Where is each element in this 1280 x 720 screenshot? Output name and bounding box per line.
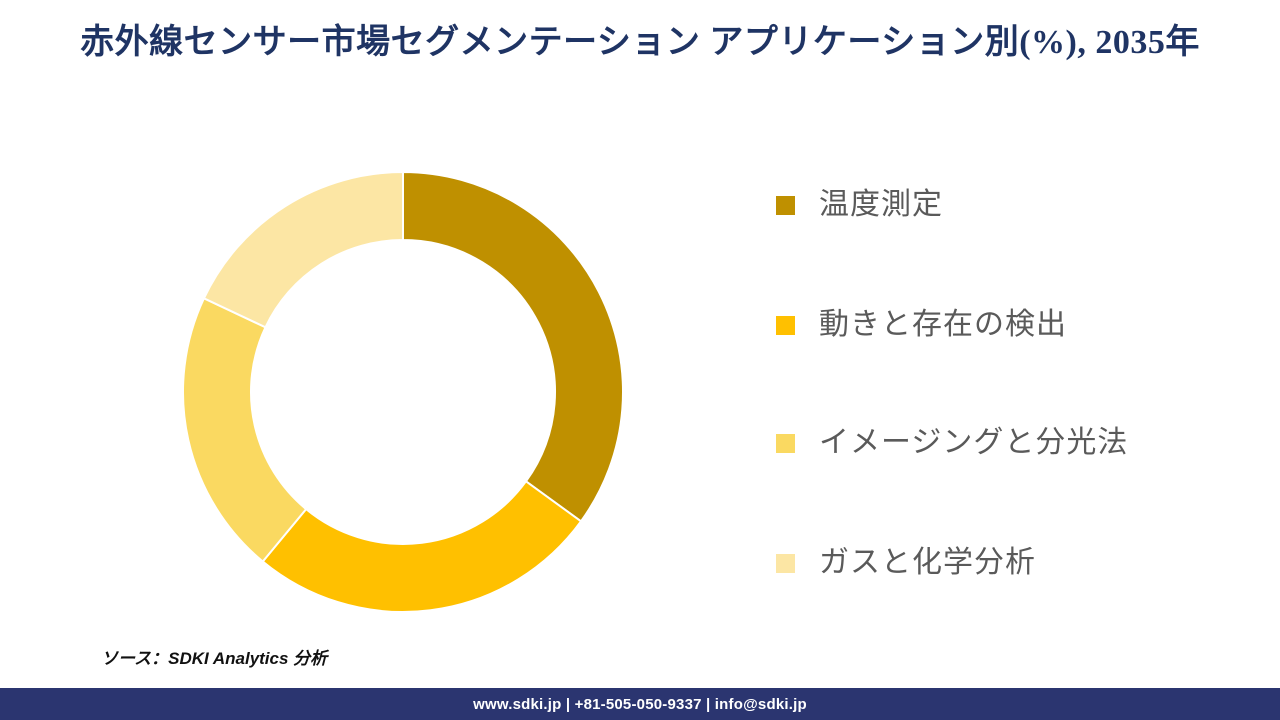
legend-item-label: 温度測定	[819, 190, 943, 220]
footer-contact-text: www.sdki.jp | +81-505-050-9337 | info@sd…	[473, 696, 807, 713]
page-title: 赤外線センサー市場セグメンテーション アプリケーション別(%), 2035年	[0, 22, 1280, 65]
legend-item-motion-presence-detection[interactable]: 動きと存在の検出	[776, 305, 1067, 345]
donut-slice[interactable]	[263, 481, 581, 612]
legend-swatch-icon-3	[776, 554, 795, 573]
donut-label-group: 35%	[455, 318, 485, 335]
donut-slice[interactable]	[204, 172, 403, 327]
donut-slice-value-label: 35%	[455, 318, 485, 335]
legend-swatch-icon-1	[776, 316, 795, 335]
donut-chart: 35%	[183, 172, 623, 613]
legend-item-gas-chemical-analysis[interactable]: ガスと化学分析	[776, 543, 1036, 583]
donut-slice[interactable]	[183, 298, 306, 561]
donut-chart-svg: 35%	[183, 172, 623, 613]
donut-slice-group	[183, 172, 623, 612]
footer-bar: www.sdki.jp | +81-505-050-9337 | info@sd…	[0, 688, 1280, 720]
legend-item-label: イメージングと分光法	[819, 428, 1128, 458]
legend-item-imaging-spectroscopy[interactable]: イメージングと分光法	[776, 423, 1128, 463]
legend-swatch-icon-0	[776, 196, 795, 215]
chart-legend: 温度測定 動きと存在の検出 イメージングと分光法 ガスと化学分析	[776, 178, 1256, 588]
legend-swatch-icon-2	[776, 434, 795, 453]
legend-item-label: 動きと存在の検出	[819, 310, 1067, 340]
legend-item-temperature-measurement[interactable]: 温度測定	[776, 185, 943, 225]
donut-slice[interactable]	[403, 172, 623, 521]
source-note: ソース：SDKI Analytics 分析	[101, 644, 327, 669]
legend-item-label: ガスと化学分析	[819, 548, 1036, 578]
